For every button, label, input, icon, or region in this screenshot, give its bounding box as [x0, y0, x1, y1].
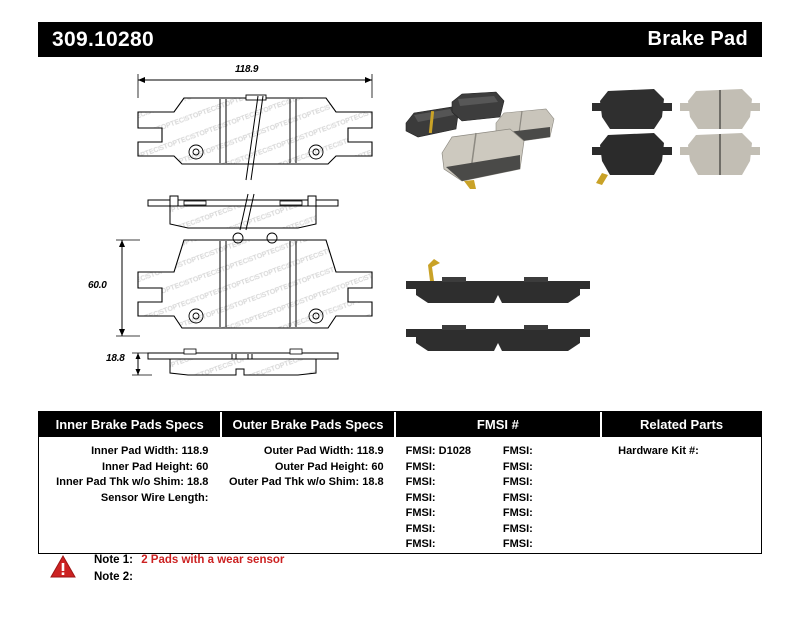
- note-1-label: Note 1:: [94, 554, 133, 566]
- fmsi-row: FMSI:: [402, 460, 499, 476]
- fmsi-row: FMSI:: [499, 537, 596, 553]
- fmsi-row: FMSI:: [499, 522, 596, 538]
- dimension-width-label: 118.9: [235, 64, 258, 75]
- product-photo-angled-group: [400, 85, 580, 190]
- fmsi-row: FMSI:: [402, 522, 499, 538]
- inner-specs-cell: Inner Pad Width: 118.9 Inner Pad Height:…: [39, 444, 222, 553]
- related-parts-cell: Hardware Kit #:: [602, 444, 761, 553]
- product-photo-edge-pair: [398, 245, 598, 355]
- fmsi-row: FMSI:: [499, 475, 596, 491]
- product-photo-topdown-grid: [588, 85, 768, 190]
- warning-triangle-icon: [50, 554, 76, 580]
- specifications-table: Inner Brake Pads Specs Outer Brake Pads …: [38, 411, 762, 554]
- header-fmsi: FMSI #: [396, 412, 602, 437]
- technical-drawing-edge-view-top: [148, 188, 338, 230]
- header-inner-specs: Inner Brake Pads Specs: [39, 412, 222, 437]
- spec-line: Inner Pad Height: 60: [45, 460, 216, 476]
- fmsi-column-left: FMSI: D1028 FMSI: FMSI: FMSI: FMSI: FMSI…: [402, 444, 499, 553]
- fmsi-row: FMSI:: [499, 460, 596, 476]
- spec-line: Inner Pad Width: 118.9: [45, 444, 216, 460]
- outer-specs-cell: Outer Pad Width: 118.9 Outer Pad Height:…: [222, 444, 395, 553]
- note-1-value: 2 Pads with a wear sensor: [141, 554, 284, 566]
- fmsi-row: FMSI: D1028: [402, 444, 499, 460]
- fmsi-row: FMSI:: [402, 491, 499, 507]
- header-outer-specs: Outer Brake Pads Specs: [222, 412, 395, 437]
- part-number: 309.10280: [52, 28, 154, 52]
- drawing-area: STOPTECH 118.9: [0, 60, 800, 395]
- fmsi-row: FMSI:: [499, 506, 596, 522]
- technical-drawing-edge-view-bottom: 18.8: [148, 343, 338, 383]
- hardware-kit-row: Hardware Kit #:: [608, 444, 755, 460]
- dimension-height-label: 60.0: [88, 280, 107, 291]
- fmsi-row: FMSI:: [499, 444, 596, 460]
- fmsi-row: FMSI:: [402, 537, 499, 553]
- header-related-parts: Related Parts: [602, 412, 761, 437]
- fmsi-row: FMSI:: [402, 475, 499, 491]
- fmsi-column-right: FMSI: FMSI: FMSI: FMSI: FMSI: FMSI: FMSI…: [499, 444, 596, 553]
- spec-line: Outer Pad Thk w/o Shim: 18.8: [228, 475, 389, 491]
- spec-line: Sensor Wire Length:: [45, 491, 216, 507]
- note-2-row: Note 2:: [94, 569, 284, 586]
- spec-table-header-row: Inner Brake Pads Specs Outer Brake Pads …: [39, 412, 761, 437]
- spec-line: Outer Pad Width: 118.9: [228, 444, 389, 460]
- notes-text-block: Note 1: 2 Pads with a wear sensor Note 2…: [94, 552, 284, 586]
- header-banner: 309.10280 Brake Pad: [38, 22, 762, 57]
- fmsi-row: FMSI:: [499, 491, 596, 507]
- spec-line: Inner Pad Thk w/o Shim: 18.8: [45, 475, 216, 491]
- note-2-label: Note 2:: [94, 571, 133, 583]
- fmsi-row: FMSI:: [402, 506, 499, 522]
- note-1-row: Note 1: 2 Pads with a wear sensor: [94, 552, 284, 569]
- spec-line: Outer Pad Height: 60: [228, 460, 389, 476]
- spec-table-body: Inner Pad Width: 118.9 Inner Pad Height:…: [39, 437, 761, 553]
- technical-drawing-front-view: STOPTECH 118.9: [130, 68, 380, 183]
- fmsi-cell: FMSI: D1028 FMSI: FMSI: FMSI: FMSI: FMSI…: [396, 444, 602, 553]
- dimension-thickness-label: 18.8: [106, 353, 125, 364]
- product-type-label: Brake Pad: [647, 28, 748, 51]
- technical-drawing-front-view-2: 60.0: [130, 232, 380, 344]
- notes-section: Note 1: 2 Pads with a wear sensor Note 2…: [50, 552, 284, 586]
